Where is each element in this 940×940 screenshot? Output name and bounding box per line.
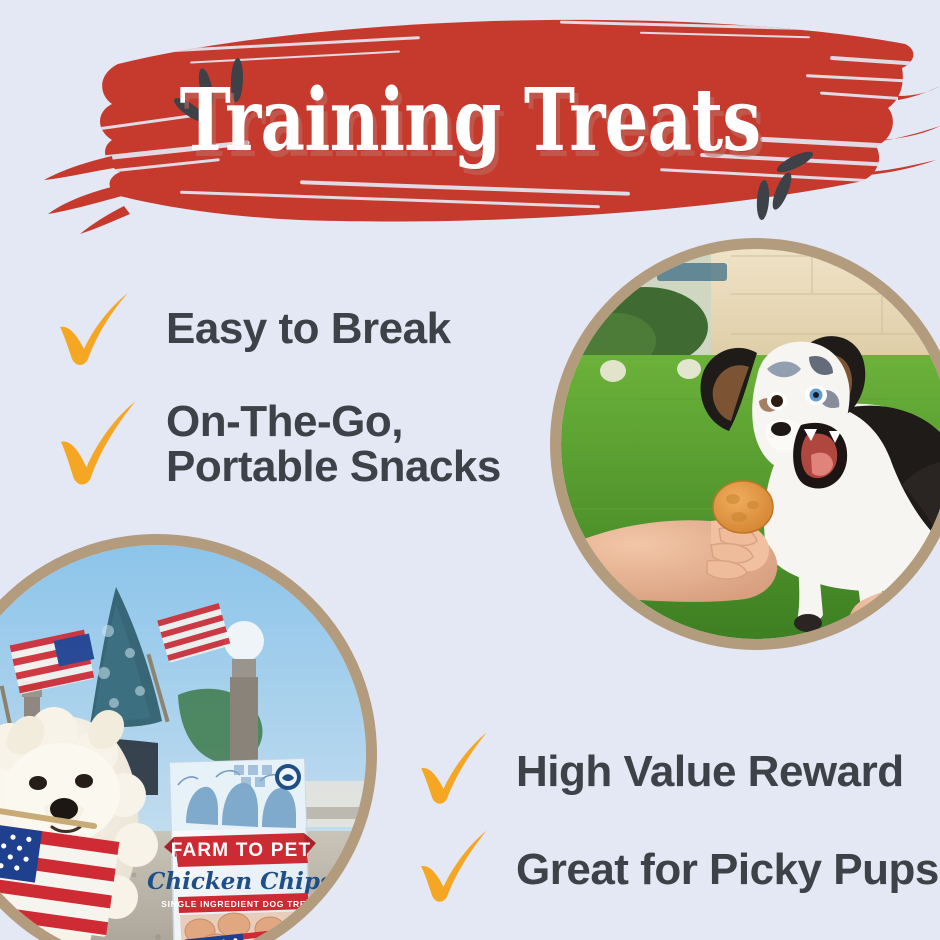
title-banner: Training Treats [0, 0, 940, 250]
check-icon [46, 390, 144, 498]
check-icon [408, 726, 494, 818]
benefit-item-picky-pups[interactable]: Great for Picky Pups [408, 824, 939, 916]
photo-scene [561, 249, 940, 639]
pomeranian-with-product-photo: FARM TO PET Chicken Chips SINGLE INGREDI… [0, 545, 366, 940]
benefit-label: High Value Reward [516, 749, 904, 794]
benefit-label: On-The-Go, Portable Snacks [166, 399, 501, 490]
product-package: FARM TO PET Chicken Chips SINGLE INGREDI… [147, 759, 333, 940]
product-tagline: SINGLE INGREDIENT DOG TREATS [161, 899, 324, 909]
brand-name: FARM TO PET [171, 840, 312, 861]
dog-catching-treat-photo [561, 249, 940, 639]
check-icon [408, 824, 494, 916]
benefit-label: Easy to Break [166, 306, 451, 351]
product-name: Chicken Chips [147, 868, 333, 895]
benefit-item-high-value-reward[interactable]: High Value Reward [408, 726, 904, 818]
benefit-item-easy-to-break[interactable]: Easy to Break [46, 283, 451, 375]
benefit-label: Great for Picky Pups [516, 847, 939, 892]
photo-scene: FARM TO PET Chicken Chips SINGLE INGREDI… [0, 545, 366, 940]
page-title: Training Treats [94, 78, 846, 164]
check-icon [46, 283, 138, 375]
infographic-canvas: Training Treats Easy to Break On-The-Go,… [0, 0, 940, 940]
benefit-item-on-the-go[interactable]: On-The-Go, Portable Snacks [46, 390, 501, 498]
